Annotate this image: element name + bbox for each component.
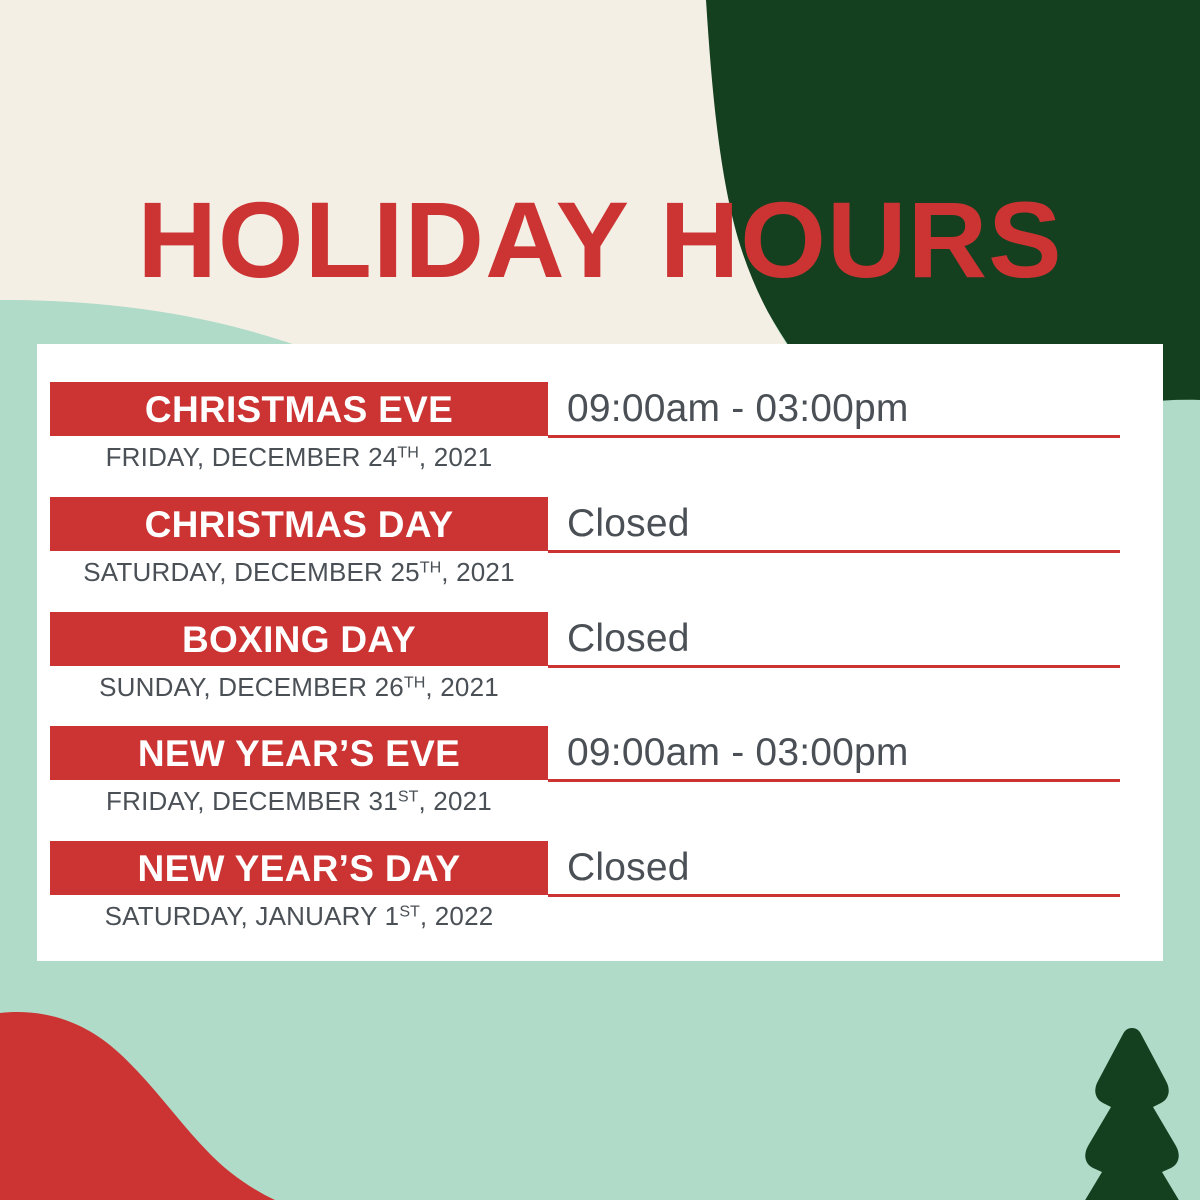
date-year: , 2022 [420, 901, 494, 931]
hours-value: Closed [567, 497, 690, 551]
hours-value: Closed [567, 612, 690, 666]
hours-row: CHRISTMAS EVE 09:00am - 03:00pm FRIDAY, … [37, 382, 1163, 496]
date-year: , 2021 [425, 672, 499, 702]
holiday-banner: BOXING DAY [50, 612, 548, 666]
hours-text: Closed [567, 502, 690, 546]
row-underline [548, 779, 1120, 782]
holiday-date: SATURDAY, JANUARY 1ST, 2022 [50, 897, 548, 936]
row-underline [548, 435, 1120, 438]
holiday-hours-poster: HOLIDAY HOURS CHRISTMAS EVE 09:00am - 03… [0, 0, 1200, 1200]
hours-row: CHRISTMAS DAY Closed SATURDAY, DECEMBER … [37, 497, 1163, 611]
date-ordinal-suffix: TH [397, 444, 418, 462]
holiday-banner: NEW YEAR’S EVE [50, 726, 548, 780]
row-underline [548, 550, 1120, 553]
holiday-name: CHRISTMAS EVE [145, 391, 453, 428]
holiday-date: FRIDAY, DECEMBER 24TH, 2021 [50, 438, 548, 477]
date-ordinal-suffix: ST [398, 788, 419, 806]
date-ordinal-suffix: TH [404, 674, 425, 692]
date-prefix: FRIDAY, DECEMBER 24 [106, 442, 398, 472]
date-prefix: SATURDAY, JANUARY 1 [105, 901, 400, 931]
date-ordinal-suffix: TH [420, 559, 441, 577]
hours-value: Closed [567, 841, 690, 895]
holiday-date: FRIDAY, DECEMBER 31ST, 2021 [50, 782, 548, 821]
holiday-name: CHRISTMAS DAY [145, 506, 454, 543]
date-year: , 2021 [441, 557, 515, 587]
hours-row: BOXING DAY Closed SUNDAY, DECEMBER 26TH,… [37, 612, 1163, 726]
hours-text: Closed [567, 846, 690, 890]
holiday-name: NEW YEAR’S EVE [138, 735, 460, 772]
date-prefix: SUNDAY, DECEMBER 26 [99, 672, 404, 702]
date-year: , 2021 [418, 786, 492, 816]
hours-row: NEW YEAR’S EVE 09:00am - 03:00pm FRIDAY,… [37, 726, 1163, 840]
holiday-date: SUNDAY, DECEMBER 26TH, 2021 [50, 668, 548, 707]
hours-value: 09:00am - 03:00pm [567, 726, 909, 780]
hours-text: 09:00am - 03:00pm [567, 731, 909, 775]
date-prefix: FRIDAY, DECEMBER 31 [106, 786, 398, 816]
page-title: HOLIDAY HOURS [0, 186, 1200, 294]
date-prefix: SATURDAY, DECEMBER 25 [83, 557, 420, 587]
holiday-banner: CHRISTMAS EVE [50, 382, 548, 436]
date-ordinal-suffix: ST [399, 903, 420, 921]
holiday-banner: CHRISTMAS DAY [50, 497, 548, 551]
hours-value: 09:00am - 03:00pm [567, 382, 909, 436]
hours-text: 09:00am - 03:00pm [567, 387, 909, 431]
row-underline [548, 665, 1120, 668]
holiday-name: BOXING DAY [182, 621, 416, 658]
row-underline [548, 894, 1120, 897]
holiday-banner: NEW YEAR’S DAY [50, 841, 548, 895]
holiday-name: NEW YEAR’S DAY [138, 850, 461, 887]
date-year: , 2021 [419, 442, 493, 472]
hours-panel: CHRISTMAS EVE 09:00am - 03:00pm FRIDAY, … [37, 344, 1163, 961]
hours-row: NEW YEAR’S DAY Closed SATURDAY, JANUARY … [37, 841, 1163, 955]
holiday-date: SATURDAY, DECEMBER 25TH, 2021 [50, 553, 548, 592]
hours-text: Closed [567, 617, 690, 661]
